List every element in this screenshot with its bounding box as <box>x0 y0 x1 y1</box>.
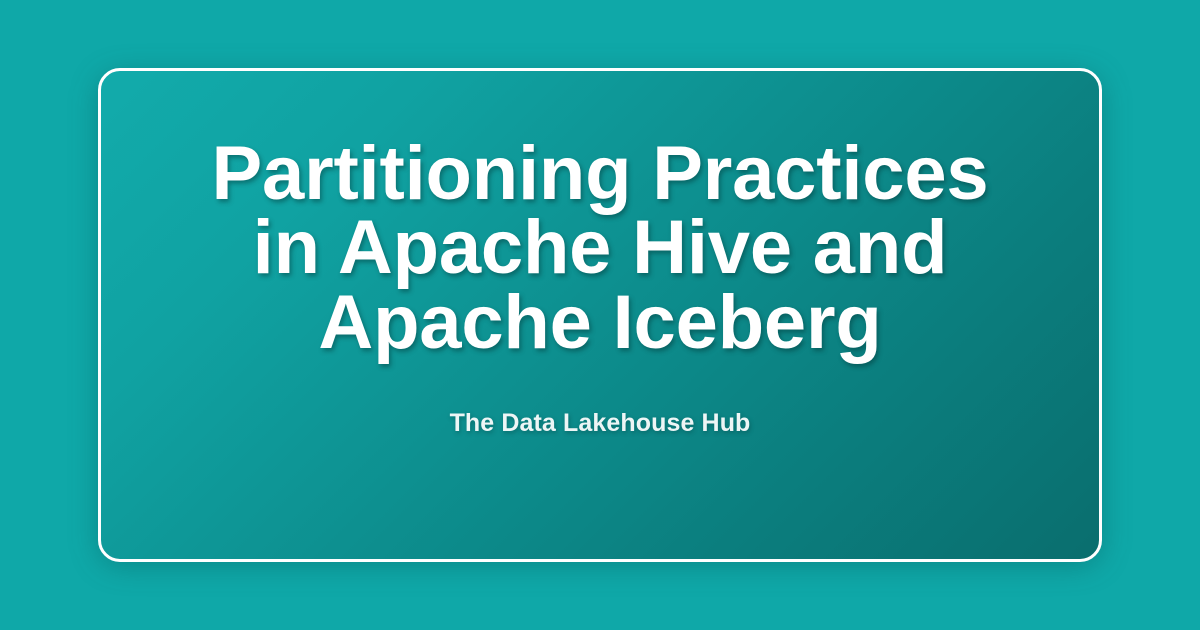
page-title: Partitioning Practices in Apache Hive an… <box>170 71 1030 360</box>
og-image-canvas: Partitioning Practices in Apache Hive an… <box>0 0 1200 630</box>
hero-card: Partitioning Practices in Apache Hive an… <box>98 68 1102 562</box>
hero-card-content: Partitioning Practices in Apache Hive an… <box>101 71 1099 438</box>
site-name-subtitle: The Data Lakehouse Hub <box>450 360 751 438</box>
